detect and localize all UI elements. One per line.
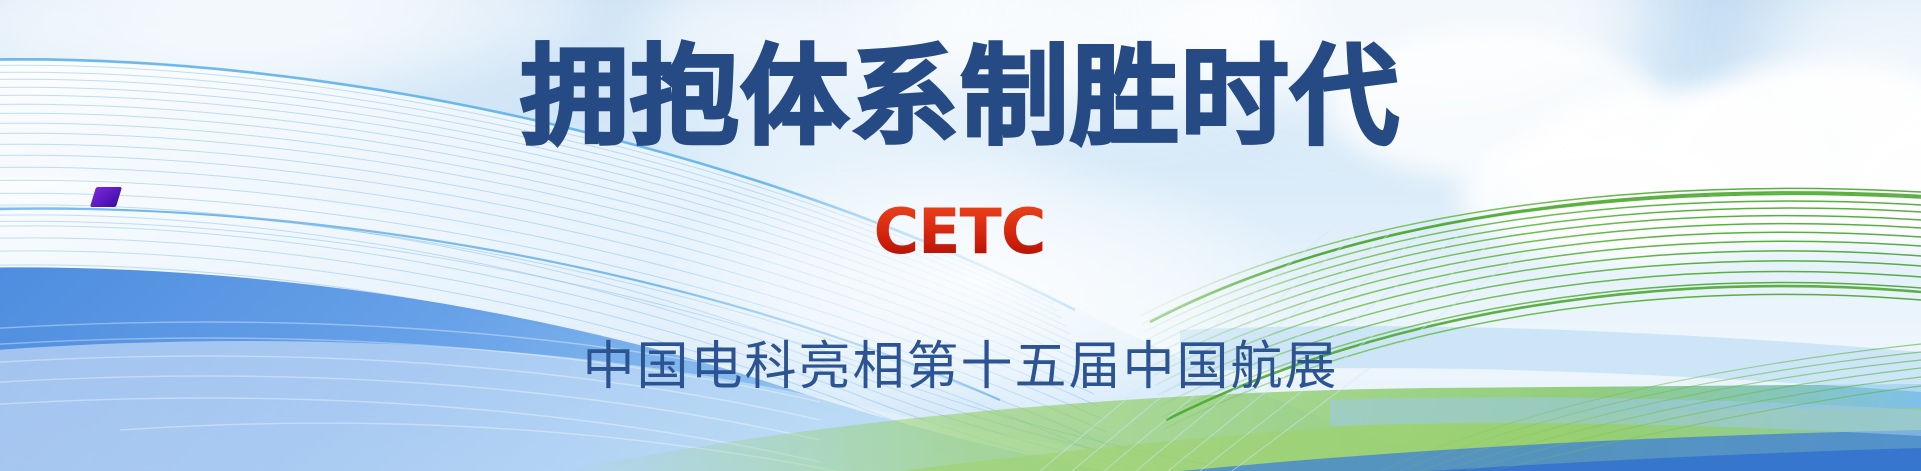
banner-content: 拥抱体系制胜时代 CETC 中国电科亮相第十五届中国航展	[0, 0, 1921, 471]
promo-banner: 拥抱体系制胜时代 CETC 中国电科亮相第十五届中国航展	[0, 0, 1921, 471]
cetc-wordmark: CETC	[874, 203, 1048, 261]
parallelogram-accent-icon	[90, 187, 122, 207]
banner-subtitle: 中国电科亮相第十五届中国航展	[0, 336, 1921, 398]
page-title: 拥抱体系制胜时代	[0, 34, 1921, 161]
brand-logo: CETC	[0, 200, 1921, 264]
